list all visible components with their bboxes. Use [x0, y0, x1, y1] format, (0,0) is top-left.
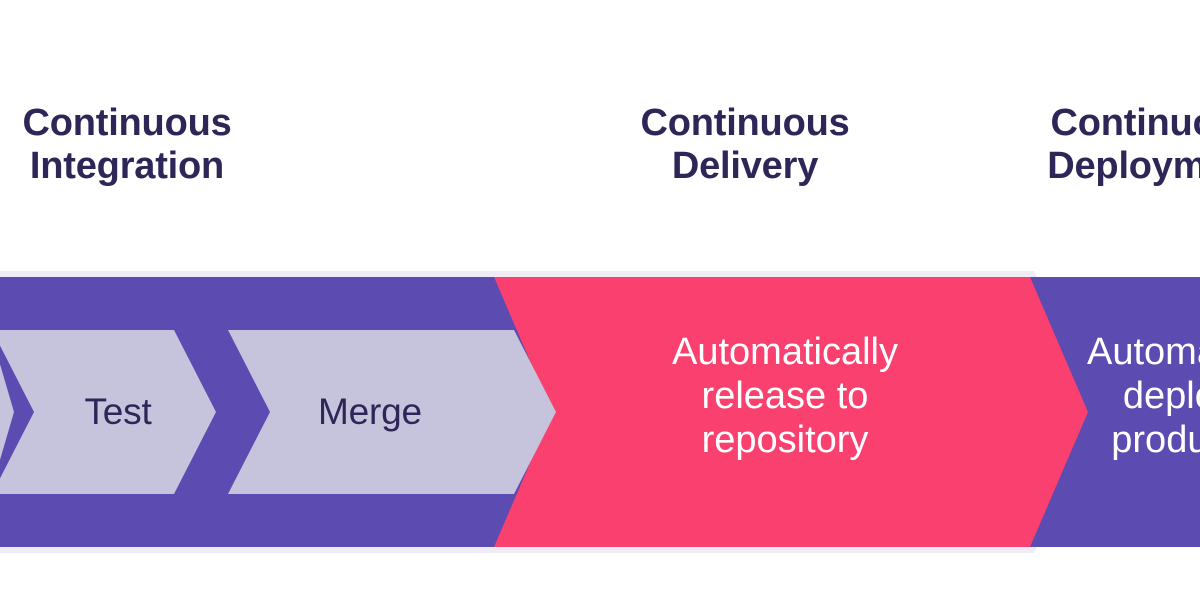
stage-heading-line-1: Continuous	[905, 102, 1200, 145]
stage-heading-line-1: Continuous	[0, 102, 377, 145]
step-label-merge: Merge	[318, 391, 422, 433]
delivery-copy-line-1: Automatically	[595, 330, 975, 374]
step-chevron-merge: Merge	[228, 330, 556, 494]
deployment-band-copy: Automatically deploy to production	[1000, 330, 1200, 462]
cicd-pipeline-diagram: Continuous Integration Continuous Delive…	[0, 0, 1200, 600]
delivery-band-copy: Automatically release to repository	[595, 330, 975, 462]
deployment-copy-line-1: Automatically	[1000, 330, 1200, 374]
stage-heading-line-2: Integration	[0, 145, 377, 188]
stage-heading-continuous-deployment: Continuous Deployment	[905, 102, 1200, 189]
deployment-copy-line-3: production	[1000, 418, 1200, 462]
delivery-copy-line-3: repository	[595, 418, 975, 462]
delivery-copy-line-2: release to	[595, 374, 975, 418]
deployment-copy-line-2: deploy to	[1000, 374, 1200, 418]
stage-heading-line-2: Deployment	[905, 145, 1200, 188]
step-label-test: Test	[84, 391, 151, 433]
stage-heading-continuous-integration: Continuous Integration	[0, 102, 377, 189]
